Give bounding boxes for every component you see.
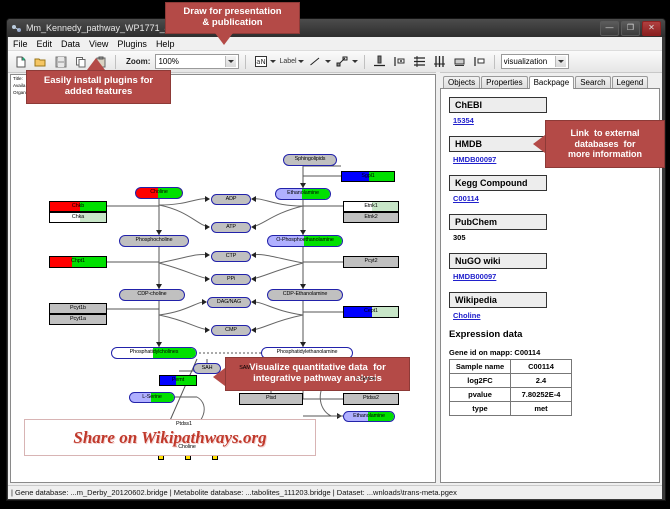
- pathway-node-ethanolamine[interactable]: Ethanolamine: [275, 188, 331, 200]
- visualization-value: visualization: [504, 57, 555, 66]
- node-label: Chpt1: [71, 259, 85, 264]
- table-row: log2FC2.4: [450, 374, 572, 388]
- callout-share: Share on Wikipathways.org: [24, 419, 316, 456]
- align-left-icon[interactable]: [391, 53, 408, 70]
- toolbar-separator: [245, 55, 246, 69]
- side-panel-tabs: ObjectsPropertiesBackpageSearchLegend: [440, 74, 660, 89]
- pathway-node-adp[interactable]: ADP: [211, 194, 251, 205]
- chevron-down-icon[interactable]: [325, 60, 331, 63]
- distribute-horizontal-icon[interactable]: [431, 53, 448, 70]
- expr-row-value: C00114: [511, 360, 572, 374]
- menu-data[interactable]: Data: [61, 39, 80, 49]
- node-label: Pcyt1a: [70, 317, 86, 322]
- node-label: Choline: [178, 445, 196, 450]
- tab-backpage[interactable]: Backpage: [529, 76, 575, 89]
- pathway-node-pcyt1b[interactable]: Pcyt1b: [49, 303, 107, 314]
- menu-file[interactable]: File: [13, 39, 28, 49]
- node-label: Sphingolipids: [295, 157, 326, 162]
- shape-icon[interactable]: [334, 53, 351, 70]
- pathway-node-chka[interactable]: Chka: [49, 212, 107, 223]
- db-header-nugo-wiki: NuGO wiki: [449, 253, 547, 269]
- pathway-node-pemt[interactable]: Pemt: [159, 375, 197, 386]
- node-label: Chkb: [72, 204, 84, 209]
- chevron-down-icon[interactable]: [298, 60, 304, 63]
- node-label: Cept1: [364, 309, 378, 314]
- node-label: Ethanolamine: [353, 414, 385, 419]
- send-to-front-icon[interactable]: [471, 53, 488, 70]
- expr-row-label: type: [450, 402, 511, 416]
- node-label: Ethanolamine: [287, 191, 319, 196]
- visualization-combo[interactable]: visualization: [501, 54, 569, 69]
- pathway-node-cept1[interactable]: Cept1: [343, 306, 399, 318]
- zoom-label: Zoom:: [126, 57, 150, 66]
- pathway-node-pcyt2[interactable]: Pcyt2: [343, 256, 399, 268]
- tab-legend[interactable]: Legend: [612, 76, 649, 88]
- expr-row-label: Sample name: [450, 360, 511, 374]
- node-label: PPi: [227, 277, 235, 282]
- db-value-pubchem: 305: [453, 233, 653, 242]
- line-icon[interactable]: [307, 53, 324, 70]
- expression-data-heading: Expression data: [449, 329, 653, 340]
- label-tool[interactable]: Label: [279, 58, 303, 65]
- node-label: Pcyt2: [365, 259, 378, 264]
- expr-row-value: 2.4: [511, 374, 572, 388]
- app-icon: [11, 23, 22, 34]
- pathway-node-o-phosphoethanolamine[interactable]: O-Phosphoethanolamine: [267, 235, 343, 247]
- label-tool-text: Label: [279, 58, 296, 65]
- callout-share-text: Share on Wikipathways.org: [73, 428, 266, 448]
- node-label: Pisd: [266, 396, 276, 401]
- menu-view[interactable]: View: [89, 39, 108, 49]
- close-button[interactable]: ✕: [642, 21, 661, 36]
- node-label: Sgpl1: [361, 174, 374, 179]
- node-label: CMP: [225, 328, 237, 333]
- node-label: Ptdss2: [363, 396, 379, 401]
- db-link-nugo-wiki[interactable]: HMDB00097: [453, 272, 653, 281]
- node-label: L-Serine: [142, 395, 162, 400]
- db-link-wikipedia[interactable]: Choline: [453, 311, 653, 320]
- pathway-node-cdp-choline[interactable]: CDP-choline: [119, 289, 185, 301]
- maximize-button[interactable]: ❐: [621, 21, 640, 36]
- datanode-tool[interactable]: aN: [252, 53, 276, 70]
- callout-draw-pointer: [215, 33, 233, 45]
- pathway-node-sgpl1[interactable]: Sgpl1: [341, 171, 395, 182]
- callout-visualize: Visualize quantitative data forintegrati…: [225, 357, 410, 391]
- callout-external-db-pointer: [533, 135, 545, 153]
- expr-row-label: log2FC: [450, 374, 511, 388]
- tab-properties[interactable]: Properties: [481, 76, 527, 88]
- toolbar-separator: [494, 55, 495, 69]
- tab-objects[interactable]: Objects: [443, 76, 480, 88]
- table-row: typemet: [450, 402, 572, 416]
- pathway-node-ethanolamine-right[interactable]: Ethanolamine: [343, 411, 395, 422]
- pathway-node-l-serine-left[interactable]: L-Serine: [129, 392, 175, 403]
- distribute-vertical-icon[interactable]: [411, 53, 428, 70]
- node-label: DAG/NAG: [217, 300, 241, 305]
- node-label: Etnk1: [364, 204, 377, 209]
- save-icon[interactable]: [52, 53, 69, 70]
- pathway-node-ppi[interactable]: PPi: [211, 274, 251, 285]
- node-label: Chka: [72, 215, 84, 220]
- callout-plugins-text: Easily install plugins foradded features: [44, 76, 153, 98]
- pathway-node-pisd[interactable]: Pisd: [239, 393, 303, 405]
- pathway-node-choline-top[interactable]: Choline: [135, 187, 183, 199]
- callout-external-db: Link to externaldatabases formore inform…: [545, 120, 665, 168]
- pathway-node-cmp[interactable]: CMP: [211, 325, 251, 336]
- callout-external-db-text: Link to externaldatabases formore inform…: [568, 128, 642, 159]
- pathway-node-phosphatidylcholines[interactable]: Phosphatidylcholines: [111, 347, 197, 359]
- node-label: ATP: [226, 225, 236, 230]
- pathway-node-pcyt1a[interactable]: Pcyt1a: [49, 314, 107, 325]
- node-label: SAH: [202, 366, 213, 371]
- node-label: L-Serine: [356, 377, 376, 382]
- tab-search[interactable]: Search: [575, 76, 610, 88]
- zoom-combo[interactable]: 100%: [155, 54, 239, 69]
- node-label: Phosphocholine: [136, 238, 173, 243]
- node-label: ADP: [226, 197, 237, 202]
- screenshot-root: Mm_Kennedy_pathway_WP1771_45176.gpml — ❐…: [0, 0, 670, 509]
- expr-row-label: pvalue: [450, 388, 511, 402]
- node-label: CDP-Ethanolamine: [283, 292, 328, 297]
- window-controls: — ❐ ✕: [600, 21, 661, 36]
- menu-help[interactable]: Help: [156, 39, 175, 49]
- pathway-node-dagnag[interactable]: DAG/NAG: [207, 297, 251, 308]
- callout-draw: Draw for presentation& publication: [165, 2, 300, 34]
- menu-plugins[interactable]: Plugins: [117, 39, 147, 49]
- new-file-icon[interactable]: [12, 53, 29, 70]
- node-label: O-Phosphoethanolamine: [276, 238, 334, 243]
- pathway-node-etnk1[interactable]: Etnk1: [343, 201, 399, 212]
- pathway-node-sphingolipids[interactable]: Sphingolipids: [283, 154, 337, 166]
- callout-visualize-pointer: [213, 368, 225, 386]
- pathway-node-etnk2[interactable]: Etnk2: [343, 212, 399, 223]
- chevron-down-icon[interactable]: [225, 56, 236, 67]
- expr-row-value: 7.80252E-4: [511, 388, 572, 402]
- node-label: CDP-choline: [137, 292, 166, 297]
- callout-plugins-pointer: [87, 58, 105, 70]
- db-header-wikipedia: Wikipedia: [449, 292, 547, 308]
- menu-edit[interactable]: Edit: [37, 39, 53, 49]
- status-text: | Gene database: ...m_Derby_20120602.bri…: [11, 488, 457, 497]
- node-label: Phosphatidylcholines: [130, 350, 179, 355]
- menu-bar: File Edit Data View Plugins Help: [8, 37, 662, 51]
- expr-row-value: met: [511, 402, 572, 416]
- chevron-down-icon[interactable]: [555, 56, 566, 67]
- db-header-pubchem: PubChem: [449, 214, 547, 230]
- chevron-down-icon[interactable]: [352, 60, 358, 63]
- pathway-node-chkb[interactable]: Chkb: [49, 201, 107, 212]
- status-bar: | Gene database: ...m_Derby_20120602.bri…: [8, 485, 662, 499]
- svg-text:aN: aN: [256, 58, 266, 66]
- open-folder-icon[interactable]: [32, 53, 49, 70]
- callout-plugins: Easily install plugins foradded features: [26, 70, 171, 104]
- callout-draw-text: Draw for presentation& publication: [183, 7, 281, 29]
- node-label: Choline: [150, 190, 168, 195]
- pathway-node-phosphocholine[interactable]: Phosphocholine: [119, 235, 189, 247]
- table-row: Sample nameC00114: [450, 360, 572, 374]
- gene-id-line: Gene id on mapp: C00114: [449, 348, 653, 357]
- node-value-half: [50, 257, 72, 267]
- pathway-node-ctp[interactable]: CTP: [211, 251, 251, 262]
- node-label: CTP: [226, 254, 236, 259]
- shape-tool[interactable]: [334, 53, 358, 70]
- node-label: Pemt: [172, 378, 184, 383]
- db-header-chebi: ChEBI: [449, 97, 547, 113]
- minimize-button[interactable]: —: [600, 21, 619, 36]
- line-tool[interactable]: [307, 53, 331, 70]
- node-label: SAM: [239, 366, 250, 371]
- toolbar-separator: [115, 55, 116, 69]
- align-bottom-icon[interactable]: [371, 53, 388, 70]
- pathway-node-cdp-ethanolamine[interactable]: CDP-Ethanolamine: [267, 289, 343, 301]
- pathway-node-ptdss2[interactable]: Ptdss2: [343, 393, 399, 405]
- expression-table: Sample nameC00114log2FC2.4pvalue7.80252E…: [449, 359, 572, 416]
- toolbar-separator: [364, 55, 365, 69]
- node-label: Ptdss1: [176, 422, 192, 427]
- db-link-kegg-compound[interactable]: C00114: [453, 194, 653, 203]
- pathway-node-chpt1[interactable]: Chpt1: [49, 256, 107, 268]
- datanode-icon[interactable]: aN: [252, 53, 269, 70]
- table-row: pvalue7.80252E-4: [450, 388, 572, 402]
- stack-icon[interactable]: [451, 53, 468, 70]
- db-header-kegg-compound: Kegg Compound: [449, 175, 547, 191]
- node-label: Pcyt1b: [70, 306, 86, 311]
- pathway-node-atp[interactable]: ATP: [211, 222, 251, 233]
- zoom-value: 100%: [158, 57, 225, 66]
- node-label: Etnk2: [364, 215, 377, 220]
- title-bar: Mm_Kennedy_pathway_WP1771_45176.gpml — ❐…: [7, 19, 665, 37]
- chevron-down-icon[interactable]: [270, 60, 276, 63]
- node-label: Phosphatidylethanolamine: [277, 350, 338, 355]
